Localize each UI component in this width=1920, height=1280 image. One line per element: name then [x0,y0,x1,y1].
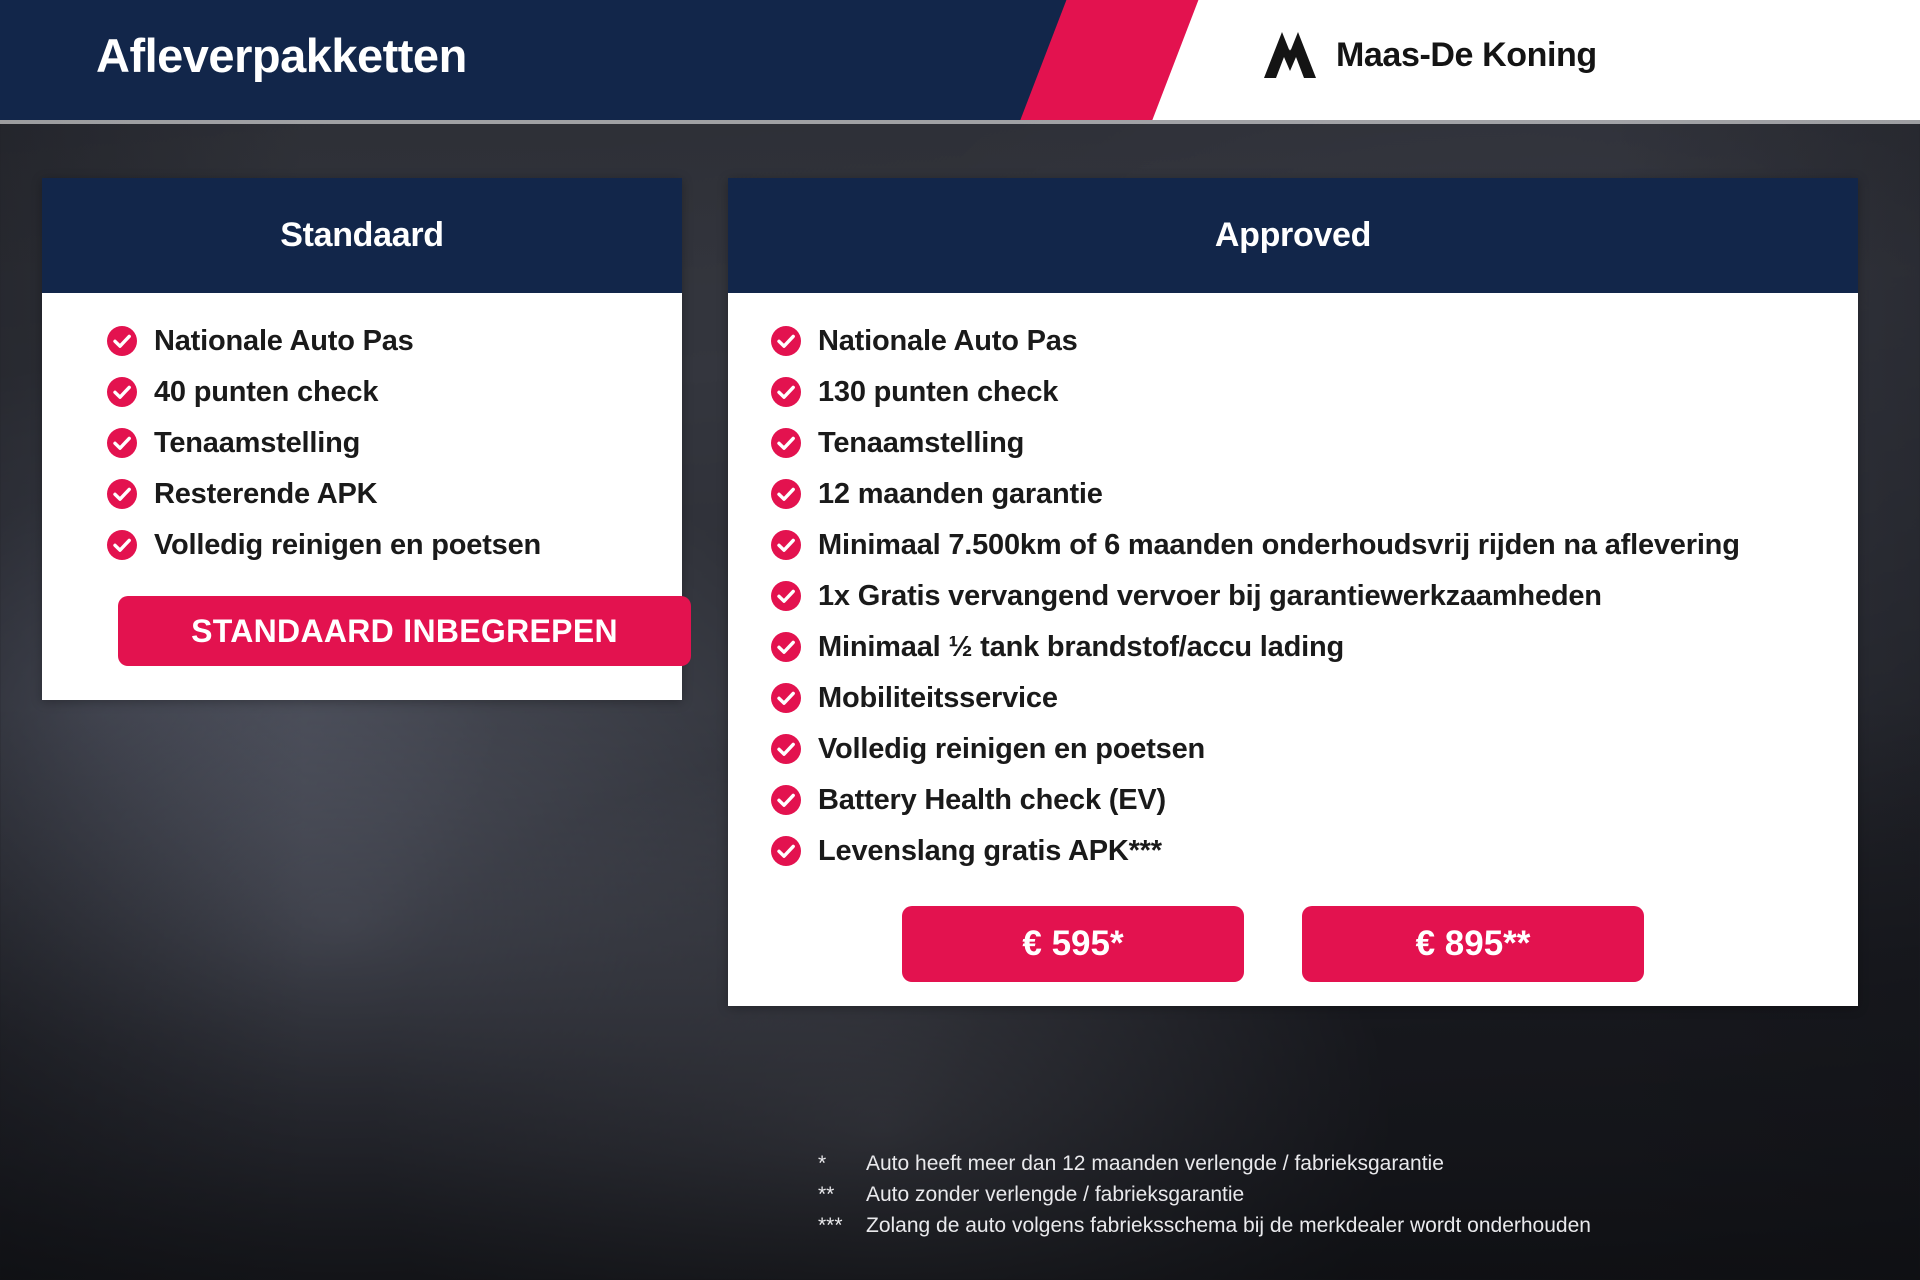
feature-label: Nationale Auto Pas [818,321,1078,362]
card-header-standaard: Standaard [42,178,682,293]
card-title-approved: Approved [1215,216,1371,255]
list-item: 130 punten check [770,372,1858,413]
feature-label: Volledig reinigen en poetsen [818,729,1205,770]
check-circle-icon [106,427,138,459]
check-circle-icon [770,325,802,357]
feature-label: 130 punten check [818,372,1058,413]
list-item: Levenslang gratis APK*** [770,831,1858,872]
footnote-marker: * [818,1148,866,1179]
package-card-standaard: Standaard Nationale Auto Pas 40 punten c… [42,178,682,700]
list-item: Resterende APK [106,474,682,515]
feature-list-approved: Nationale Auto Pas 130 punten check Tena… [728,321,1858,872]
package-card-approved: Approved Nationale Auto Pas 130 punten c… [728,178,1858,1006]
check-circle-icon [770,682,802,714]
feature-label: Minimaal 7.500km of 6 maanden onderhouds… [818,525,1740,566]
check-circle-icon [770,478,802,510]
footnote-row: * Auto heeft meer dan 12 maanden verleng… [818,1148,1591,1179]
footnote-row: ** Auto zonder verlengde / fabrieksgaran… [818,1179,1591,1210]
footnote-text: Auto zonder verlengde / fabrieksgarantie [866,1179,1244,1210]
feature-label: Volledig reinigen en poetsen [154,525,541,566]
list-item: Tenaamstelling [770,423,1858,464]
list-item: Minimaal 7.500km of 6 maanden onderhouds… [770,525,1858,566]
check-circle-icon [770,784,802,816]
feature-label: Mobiliteitsservice [818,678,1058,719]
footnote-text: Zolang de auto volgens fabrieksschema bi… [866,1210,1591,1241]
card-body-standaard: Nationale Auto Pas 40 punten check Tenaa… [42,293,682,700]
footnote-row: *** Zolang de auto volgens fabrieksschem… [818,1210,1591,1241]
list-item: 40 punten check [106,372,682,413]
card-body-approved: Nationale Auto Pas 130 punten check Tena… [728,293,1858,1006]
check-circle-icon [770,376,802,408]
feature-list-standaard: Nationale Auto Pas 40 punten check Tenaa… [42,321,682,566]
feature-label: Levenslang gratis APK*** [818,831,1162,872]
brand-logo: Maas-De Koning [1262,30,1597,80]
header-divider [0,120,1920,124]
feature-label: Battery Health check (EV) [818,780,1166,821]
feature-label: Tenaamstelling [154,423,360,464]
card-title-standaard: Standaard [280,216,444,255]
feature-label: Minimaal ½ tank brandstof/accu lading [818,627,1344,668]
feature-label: Tenaamstelling [818,423,1024,464]
footnotes: * Auto heeft meer dan 12 maanden verleng… [818,1148,1591,1241]
feature-label: Resterende APK [154,474,377,515]
brand-logo-text: Maas-De Koning [1336,36,1597,75]
footnote-marker: ** [818,1179,866,1210]
list-item: 12 maanden garantie [770,474,1858,515]
check-circle-icon [770,427,802,459]
list-item: Mobiliteitsservice [770,678,1858,719]
list-item: Volledig reinigen en poetsen [106,525,682,566]
price-button-row: € 595* € 895** [728,906,1858,982]
list-item: Volledig reinigen en poetsen [770,729,1858,770]
check-circle-icon [106,478,138,510]
maas-de-koning-m-icon [1262,30,1318,80]
check-circle-icon [770,529,802,561]
list-item: Minimaal ½ tank brandstof/accu lading [770,627,1858,668]
feature-label: 12 maanden garantie [818,474,1103,515]
footnote-text: Auto heeft meer dan 12 maanden verlengde… [866,1148,1444,1179]
feature-label: 40 punten check [154,372,378,413]
card-header-approved: Approved [728,178,1858,293]
check-circle-icon [770,835,802,867]
list-item: Tenaamstelling [106,423,682,464]
check-circle-icon [770,580,802,612]
footnote-marker: *** [818,1210,866,1241]
list-item: Nationale Auto Pas [770,321,1858,362]
page-header: Afleverpakketten Maas-De Koning [0,0,1920,120]
feature-label: Nationale Auto Pas [154,321,414,362]
page-title: Afleverpakketten [96,28,467,83]
price-button-595[interactable]: € 595* [902,906,1244,982]
check-circle-icon [770,733,802,765]
check-circle-icon [106,529,138,561]
list-item: Battery Health check (EV) [770,780,1858,821]
list-item: 1x Gratis vervangend vervoer bij garanti… [770,576,1858,617]
check-circle-icon [106,376,138,408]
standaard-inbegrepen-button[interactable]: STANDAARD INBEGREPEN [118,596,691,666]
list-item: Nationale Auto Pas [106,321,682,362]
price-button-895[interactable]: € 895** [1302,906,1644,982]
check-circle-icon [770,631,802,663]
check-circle-icon [106,325,138,357]
feature-label: 1x Gratis vervangend vervoer bij garanti… [818,576,1602,617]
